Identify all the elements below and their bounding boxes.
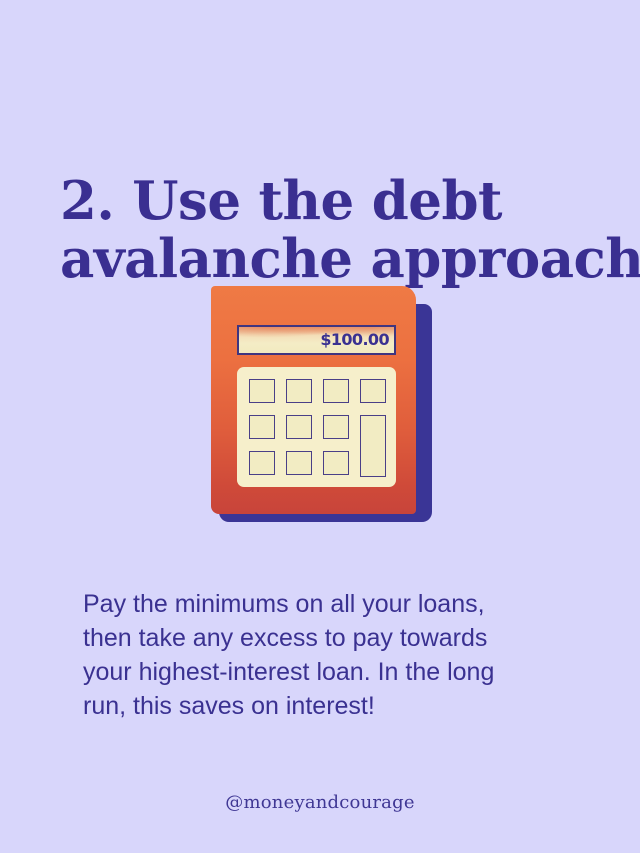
- calculator-key: [286, 451, 312, 475]
- body-text-line-4: run, this saves on interest!: [83, 689, 563, 723]
- calculator-display: $100.00: [237, 325, 396, 355]
- slide-canvas: 2. Use the debt avalanche approach. $100…: [0, 0, 640, 853]
- calculator-key: [323, 379, 349, 403]
- calculator-keypad: [237, 367, 396, 487]
- calculator-key: [249, 451, 275, 475]
- calculator-key: [323, 415, 349, 439]
- page-title-line-1: 2. Use the debt: [60, 172, 580, 230]
- keypad-grid: [249, 379, 387, 475]
- calculator-key-enter: [360, 415, 386, 477]
- display-value: $100.00: [320, 332, 389, 348]
- calculator-body: $100.00: [211, 286, 416, 514]
- body-text-line-1: Pay the minimums on all your loans,: [83, 587, 563, 621]
- calculator-key: [323, 451, 349, 475]
- page-title-line-2: avalanche approach.: [60, 230, 580, 288]
- page-title: 2. Use the debt avalanche approach.: [60, 172, 580, 288]
- body-text-line-3: your highest-interest loan. In the long: [83, 655, 563, 689]
- account-handle: @moneyandcourage: [0, 792, 640, 813]
- body-text-line-2: then take any excess to pay towards: [83, 621, 563, 655]
- calculator-illustration: $100.00: [206, 286, 434, 530]
- body-text: Pay the minimums on all your loans, then…: [83, 587, 563, 723]
- calculator-key: [286, 379, 312, 403]
- calculator-key: [360, 379, 386, 403]
- calculator-key: [286, 415, 312, 439]
- calculator-key: [249, 415, 275, 439]
- calculator-key: [249, 379, 275, 403]
